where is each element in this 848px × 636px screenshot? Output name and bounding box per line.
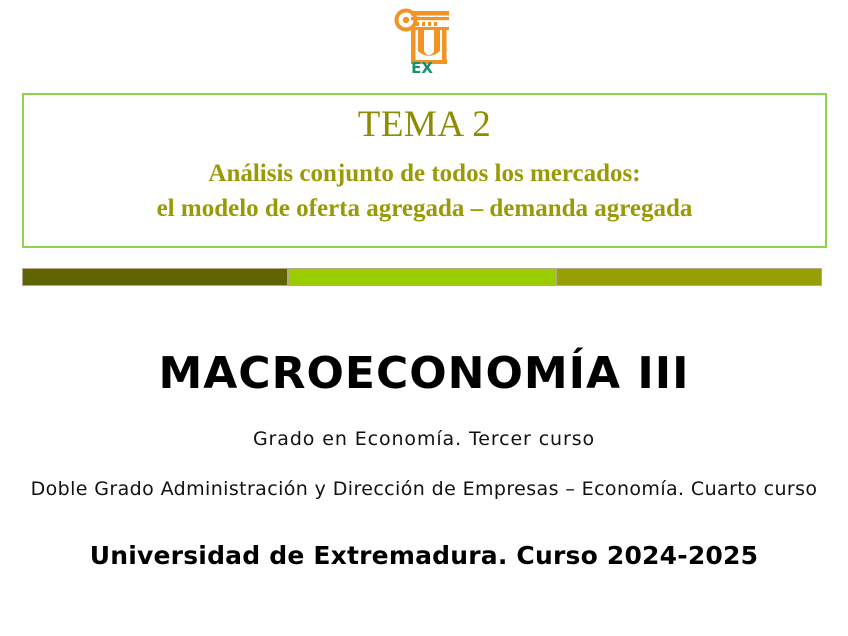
subtitle-line-1: Análisis conjunto de todos los mercados: [24,157,825,190]
university-line: Universidad de Extremadura. Curso 2024-2… [0,541,848,570]
tema-heading: TEMA 2 [24,106,825,145]
uex-logo: EX [392,4,456,76]
uex-logo-ex-text: EX [411,59,433,76]
bar-segment-dark-olive [22,268,288,286]
subtitle-line-2: el modelo de oferta agregada – demanda a… [24,192,825,225]
title-box: TEMA 2 Análisis conjunto de todos los me… [22,93,827,248]
bar-segment-olive [556,268,822,286]
decorative-color-bar [22,268,822,286]
degree-line-2: Doble Grado Administración y Dirección d… [0,478,848,500]
uex-logo-icon: EX [392,4,456,76]
degree-line-1: Grado en Economía. Tercer curso [0,428,848,450]
course-title: MACROECONOMÍA III [0,348,848,399]
bar-segment-bright-green [288,268,556,286]
title-slide: EX TEMA 2 Análisis conjunto de todos los… [0,0,848,636]
